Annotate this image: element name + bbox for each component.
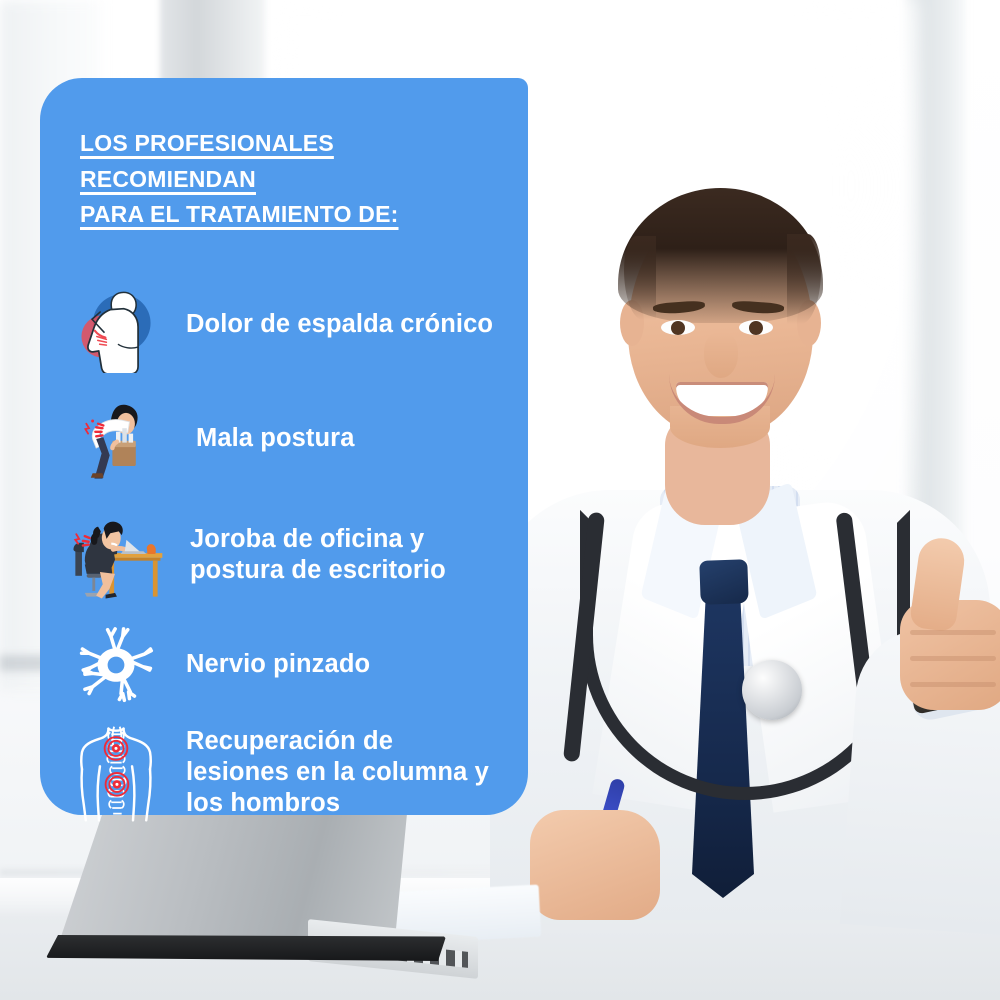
knuckle-line xyxy=(910,630,996,635)
spine-injury-torso-icon xyxy=(60,723,172,823)
list-item: Nervio pinzado xyxy=(60,615,498,715)
list-item-label: Dolor de espalda crónico xyxy=(186,309,493,340)
treatment-list: Dolor de espalda crónico xyxy=(60,275,498,823)
back-pain-person-icon xyxy=(60,275,172,375)
recommendation-card: LOS PROFESIONALES RECOMIENDAN PARA EL TR… xyxy=(40,78,528,815)
hair xyxy=(618,188,823,323)
list-item: Joroba de oficina y postura de escritori… xyxy=(60,505,498,605)
bad-posture-lifting-box-icon xyxy=(60,389,172,489)
neuron-nerve-cell-icon xyxy=(60,615,172,715)
left-hand-holding-pen xyxy=(530,810,660,920)
doctor-figure xyxy=(520,160,1000,920)
list-item-label: Recuperación de lesiones en la columna y… xyxy=(186,726,498,819)
knuckle-line xyxy=(910,656,996,661)
knuckle-line xyxy=(910,682,996,687)
list-item: Recuperación de lesiones en la columna y… xyxy=(60,723,498,823)
card-title: LOS PROFESIONALES RECOMIENDAN PARA EL TR… xyxy=(80,126,498,233)
laptop-base xyxy=(46,935,446,961)
list-item-label: Mala postura xyxy=(186,423,354,454)
list-item: Dolor de espalda crónico xyxy=(60,275,498,375)
stethoscope-bell xyxy=(742,660,802,720)
list-item-label: Nervio pinzado xyxy=(186,649,370,680)
eye-left xyxy=(661,320,695,335)
office-desk-woman-laptop-icon xyxy=(60,505,172,605)
laptop xyxy=(18,800,448,980)
nose xyxy=(704,332,738,378)
list-item: Mala postura xyxy=(60,389,498,489)
list-item-label: Joroba de oficina y postura de escritori… xyxy=(186,524,498,586)
eye-right xyxy=(739,320,773,335)
